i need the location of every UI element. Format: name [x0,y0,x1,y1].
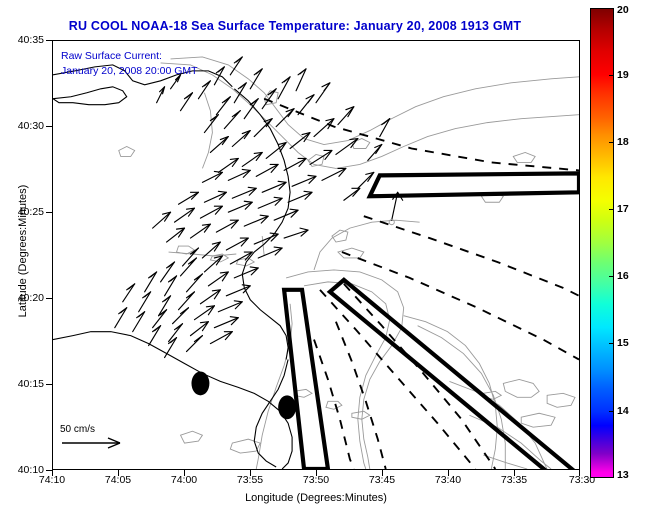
y-axis-label: Latitude (Degrees:Minutes) [17,151,29,351]
temperature-colorbar[interactable] [590,8,614,478]
cbtick-label: 15 [617,337,629,349]
map-plot-area[interactable]: Raw Surface Current: January 20, 2008 20… [52,40,580,470]
xtick-label: 74:00 [171,474,197,486]
ytick-label: 40:10 [0,464,44,476]
map-canvas [53,41,579,469]
x-axis-label: Longitude (Degrees:Minutes) [52,492,580,504]
page-title: RU COOL NOAA-18 Sea Surface Temperature:… [0,19,590,33]
cbtick-label: 19 [617,69,629,81]
bathymetry-contours [119,57,579,469]
surface-current-vectors [115,57,403,358]
xtick-label: 74:05 [105,474,131,486]
traffic-separation-dashed [264,99,579,469]
xtick-label: 73:40 [435,474,461,486]
xtick-label: 73:50 [303,474,329,486]
coastline [53,65,292,469]
station-markers [191,371,296,419]
xtick-label: 73:35 [501,474,527,486]
xtick-label: 73:55 [237,474,263,486]
cbtick-label: 14 [617,405,629,417]
sst-map-figure: RU COOL NOAA-18 Sea Surface Temperature:… [0,0,651,518]
cbtick-label: 18 [617,136,629,148]
cbtick-label: 20 [617,4,629,16]
xtick-label: 73:45 [369,474,395,486]
ytick-label: 40:30 [0,120,44,132]
cbtick-label: 13 [617,469,629,481]
cbtick-label: 17 [617,203,629,215]
shipping-lanes [284,173,579,469]
ytick-label: 40:15 [0,378,44,390]
ytick-label: 40:35 [0,34,44,46]
cbtick-label: 16 [617,270,629,282]
